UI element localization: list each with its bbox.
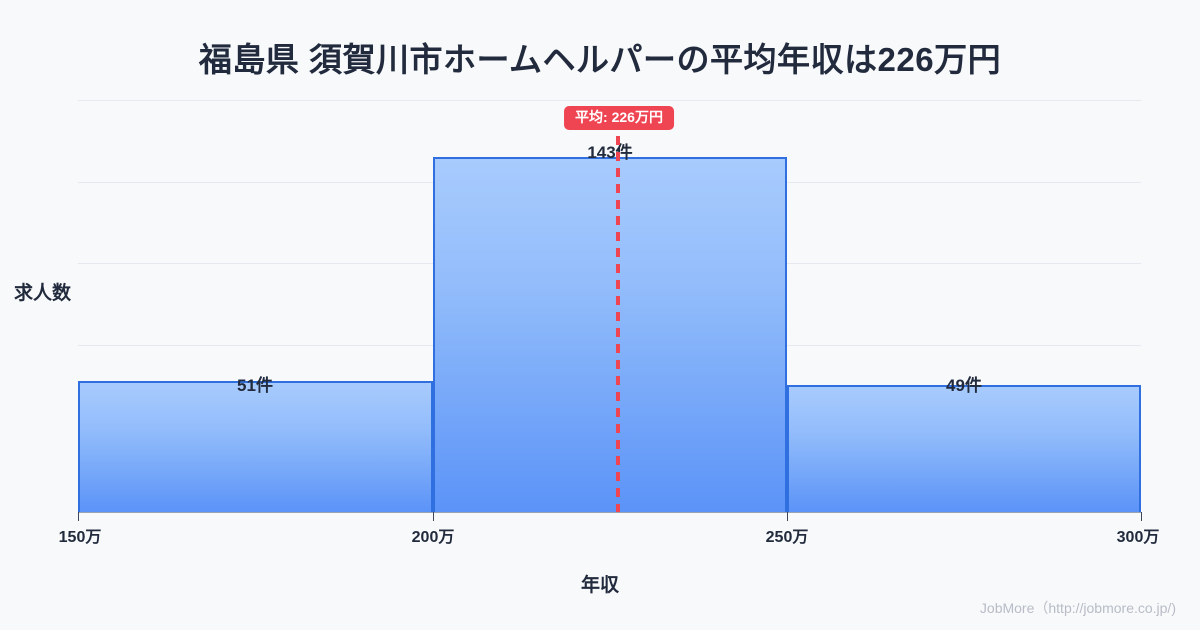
plot-area: 51件 143件 49件 [78, 88, 1141, 512]
y-axis-title: 求人数 [14, 278, 71, 305]
x-axis-line [78, 512, 1141, 513]
footer-credit: JobMore（http://jobmore.co.jp/) [980, 598, 1176, 618]
mean-line [616, 120, 620, 512]
bar-value-label: 51件 [237, 371, 273, 396]
mean-badge: 平均: 226万円 [564, 106, 674, 130]
histogram-bar[interactable] [433, 157, 787, 512]
gridline [78, 100, 1141, 101]
x-axis-tick-label: 300万 [1117, 523, 1160, 547]
histogram-bar[interactable] [787, 385, 1141, 512]
x-axis-tick [433, 512, 434, 521]
x-axis-tick-label: 200万 [412, 523, 455, 547]
x-axis-tick [78, 512, 79, 521]
x-axis-tick [1141, 512, 1142, 521]
x-axis-title: 年収 [0, 570, 1200, 597]
x-axis-tick-label: 150万 [59, 523, 102, 547]
x-axis-tick-label: 250万 [766, 523, 809, 547]
bar-value-label: 143件 [587, 138, 632, 163]
histogram-bar[interactable] [78, 381, 433, 512]
chart-title: 福島県 須賀川市ホームヘルパーの平均年収は226万円 [0, 33, 1200, 81]
bar-value-label: 49件 [946, 371, 982, 396]
chart-container: 福島県 須賀川市ホームヘルパーの平均年収は226万円 51件 143件 49件 … [0, 0, 1200, 630]
x-axis-tick [787, 512, 788, 521]
